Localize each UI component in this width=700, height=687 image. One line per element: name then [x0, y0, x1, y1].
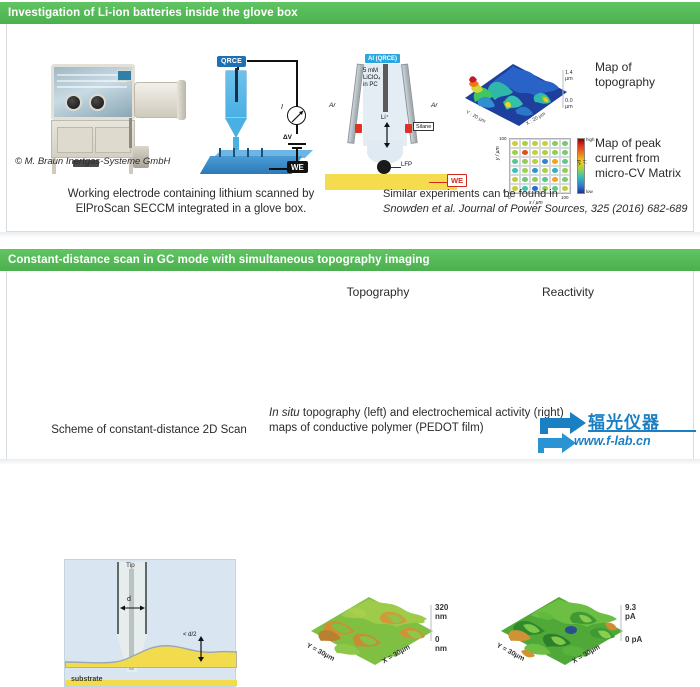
circuit-mid-wire	[296, 125, 298, 134]
topo-b-z-min: 0 nm	[435, 635, 453, 653]
cv-matrix-dot	[512, 141, 518, 146]
poster-page: Investigation of Li-ion batteries inside…	[0, 0, 700, 465]
cv-matrix-dot	[542, 168, 548, 173]
cv-matrix-cell	[530, 175, 540, 184]
substrate-feature-1	[219, 148, 221, 157]
cabinet-door-left	[57, 127, 93, 153]
cv-matrix-cell	[550, 166, 560, 175]
cv-matrix-cell	[540, 175, 550, 184]
diameter-arrow-icon	[120, 604, 145, 612]
cv-matrix-dot	[512, 168, 518, 173]
gas-label-right: Ar	[431, 102, 438, 109]
ammeter	[287, 106, 306, 125]
cv-matrix-dot	[532, 159, 538, 164]
we-label-red: WE	[447, 174, 467, 187]
cv-y-tick-max: 100	[499, 136, 507, 141]
gap-label: < d/2	[183, 632, 197, 638]
substrate-feature-4	[261, 148, 263, 157]
cv-matrix-dot	[512, 150, 518, 155]
cv-matrix-cell	[540, 157, 550, 166]
section-2-banner: Constant-distance scan in GC mode with s…	[0, 249, 700, 271]
watermark: 辐光仪器 www.f-lab.cn	[536, 408, 698, 458]
substrate-feature-2	[233, 148, 235, 157]
pedot-reactivity-plot: 9.3 pA 0 pA Y = 30µm X = 30µm	[493, 579, 643, 671]
cv-y-axis-label: y / µm	[495, 146, 501, 160]
tip-label: Tip	[125, 562, 136, 569]
cv-matrix-cell	[520, 148, 530, 157]
section-1-divider	[0, 232, 700, 238]
cv-matrix-cell	[540, 148, 550, 157]
cv-matrix-dot	[522, 177, 528, 182]
topo-title-line2: topography	[595, 75, 699, 90]
cv-matrix-cell	[560, 157, 570, 166]
silane-coating-right	[405, 124, 412, 133]
reactivity-plot-title: Reactivity	[493, 285, 643, 299]
cv-matrix-cell	[560, 166, 570, 175]
control-screen	[117, 70, 132, 81]
cv-matrix-cell	[560, 148, 570, 157]
section-2-title: Constant-distance scan in GC mode with s…	[8, 254, 430, 266]
cv-matrix-cell	[550, 139, 560, 148]
substrate-feature-3	[247, 148, 249, 157]
cv-matrix-cell	[550, 157, 560, 166]
section-2-caption-left: Scheme of constant-distance 2D Scan	[21, 423, 277, 438]
cv-colorbar	[577, 138, 585, 194]
al-qrce-label: Al (QRCE)	[365, 54, 400, 63]
topo-b-z-max: 320 nm	[435, 603, 453, 621]
cv-matrix-cell	[520, 166, 530, 175]
caption-right-reference: Snowden et al. Journal of Power Sources,…	[383, 202, 689, 217]
photo-credit: © M. Braun Inertgas-Systeme GmbH	[15, 154, 195, 169]
lfp-particle	[377, 160, 391, 174]
cv-matrix-dot	[562, 141, 568, 146]
cv-matrix-cell	[530, 166, 540, 175]
silane-label: Silane	[413, 122, 434, 131]
electrolyte-line-3: in PC	[363, 82, 380, 89]
lithium-ion-label: Li⁺	[381, 114, 389, 121]
lfp-label: LFP	[401, 162, 412, 168]
cv-matrix-dot	[512, 177, 518, 182]
cv-matrix-cell	[520, 157, 530, 166]
cv-title-line1: Map of peak	[595, 136, 700, 151]
qrce-electrode-wire	[235, 68, 238, 102]
cv-matrix-dot	[532, 177, 538, 182]
section-1-caption-left: Working electrode containing lithium sca…	[25, 187, 357, 217]
cv-matrix-grid	[509, 138, 571, 194]
caption-2-line-1-rest: topography (left) and electrochemical ac…	[300, 407, 564, 419]
watermark-url: www.f-lab.cn	[574, 434, 651, 448]
cv-matrix-cell	[540, 166, 550, 175]
cv-matrix-dot	[552, 159, 558, 164]
glove-port-right	[89, 94, 106, 111]
cv-matrix-cell	[560, 175, 570, 184]
gap-arrow-icon	[197, 636, 205, 662]
meter-needle-icon	[291, 110, 304, 123]
cv-matrix-cell	[550, 148, 560, 157]
section-1-caption-right: Similar experiments can be found in Snow…	[383, 187, 689, 217]
section-1-panel: © M. Braun Inertgas-Systeme GmbH QRCE	[6, 24, 694, 232]
topo-title-line1: Map of	[595, 60, 699, 75]
topography-surface-plot: 1.4 µm 0.0 µm Y : 20 µm X : 20 µm	[459, 58, 579, 136]
aluminium-electrode	[383, 64, 388, 112]
ion-transport-arrow-icon	[383, 122, 391, 148]
cv-matrix-dot	[562, 177, 568, 182]
cv-matrix-dot	[552, 177, 558, 182]
circuit-top-wire	[247, 60, 297, 62]
glass-reflection-3	[57, 86, 127, 88]
pipette-taper	[225, 118, 247, 138]
cv-matrix-dot	[522, 141, 528, 146]
antechamber-door	[177, 80, 186, 120]
section-2-divider	[0, 459, 700, 465]
colorbar-high-label: high	[586, 137, 595, 142]
circuit-right-wire	[296, 60, 298, 107]
cv-matrix-cell	[520, 139, 530, 148]
cv-matrix-dot	[542, 159, 548, 164]
cv-matrix-dot	[522, 159, 528, 164]
cv-matrix-cell	[510, 166, 520, 175]
gas-label-left: Ar	[329, 102, 336, 109]
cv-matrix-dot	[532, 141, 538, 146]
cv-matrix-cell	[510, 175, 520, 184]
electrolyte-composition: 5 mM LiClO₄ in PC	[363, 68, 380, 89]
we-leader-line	[429, 182, 447, 183]
caption-right-line-1: Similar experiments can be found in	[383, 187, 689, 202]
cv-matrix-cell	[520, 175, 530, 184]
colorbar-unit-label: i / pA	[577, 160, 587, 166]
vacuum-tube	[129, 118, 132, 148]
current-label: I	[281, 104, 283, 111]
cv-matrix-cell	[560, 139, 570, 148]
qrce-label: QRCE	[217, 56, 246, 67]
cv-matrix-dot	[542, 141, 548, 146]
cv-matrix-dot	[532, 168, 538, 173]
seccm-schematic-cell: QRCE I ΔV	[203, 56, 333, 188]
battery-plate-long	[288, 143, 306, 145]
antechamber	[134, 82, 182, 118]
cv-matrix-dot	[552, 168, 558, 173]
cv-matrix-cell	[550, 175, 560, 184]
cv-matrix-cell	[530, 148, 540, 157]
cv-title-line3: micro-CV Matrix	[595, 166, 700, 181]
cv-matrix-dot	[542, 150, 548, 155]
diameter-label: d	[127, 596, 131, 603]
cv-matrix-cell	[540, 139, 550, 148]
topography-surface-svg	[459, 58, 579, 136]
react-z-max: 9.3 pA	[625, 603, 643, 621]
pedot-topography-plot: 320 nm 0 nm Y = 30µm X = 30µm	[303, 579, 453, 671]
topo-z-min: 0.0 µm	[565, 98, 579, 110]
we-lead	[269, 168, 289, 170]
cv-matrix-cell	[530, 139, 540, 148]
we-label: WE	[287, 161, 308, 173]
cv-matrix-dot	[552, 141, 558, 146]
nanopipette-schematic: Al (QRCE) 5 mM LiClO₄ in PC Ar Ar Li⁺ Si…	[339, 56, 467, 196]
topography-map-title: Map of topography	[595, 60, 699, 90]
caption-left-line-1: Working electrode containing lithium sca…	[25, 187, 357, 202]
cv-matrix-dot	[562, 168, 568, 173]
substrate-label: substrate	[71, 676, 103, 683]
cv-matrix-cell	[510, 148, 520, 157]
cv-matrix-dot	[562, 150, 568, 155]
cv-matrix-title: Map of peak current from micro-CV Matrix	[595, 136, 700, 181]
section-1-banner: Investigation of Li-ion batteries inside…	[0, 2, 700, 24]
section-1-title: Investigation of Li-ion batteries inside…	[8, 7, 298, 19]
silane-coating-left	[355, 124, 362, 133]
cv-matrix-cell	[510, 157, 520, 166]
watermark-underline	[588, 430, 696, 432]
cv-matrix-cell	[530, 157, 540, 166]
cv-matrix-dot	[512, 159, 518, 164]
cv-matrix-dot	[552, 150, 558, 155]
react-z-min: 0 pA	[625, 635, 642, 644]
substrate-profile	[65, 642, 237, 668]
caption-left-line-2: ElProScan SECCM integrated in a glove bo…	[25, 202, 357, 217]
cv-matrix-dot	[522, 168, 528, 173]
in-situ-italic: In situ	[269, 407, 300, 419]
topo-z-max: 1.4 µm	[565, 70, 579, 82]
constant-distance-scheme: Tip d substrate < d/2	[64, 559, 236, 687]
glove-port-left	[65, 94, 82, 111]
cv-matrix-dot	[562, 159, 568, 164]
electrolyte-line-1: 5 mM	[363, 68, 380, 75]
cabinet-door-right	[95, 127, 131, 153]
voltage-label: ΔV	[283, 134, 292, 141]
cv-matrix-cell	[510, 139, 520, 148]
cv-matrix-dot	[532, 150, 538, 155]
cv-title-line2: current from	[595, 151, 700, 166]
cv-matrix-dot	[542, 177, 548, 182]
electrolyte-line-2: LiClO₄	[363, 75, 380, 82]
lfp-leader-line	[391, 167, 401, 168]
cv-matrix-dot	[522, 150, 528, 155]
topography-plot-title: Topography	[303, 285, 453, 299]
glovebox-cabinet	[51, 120, 135, 158]
